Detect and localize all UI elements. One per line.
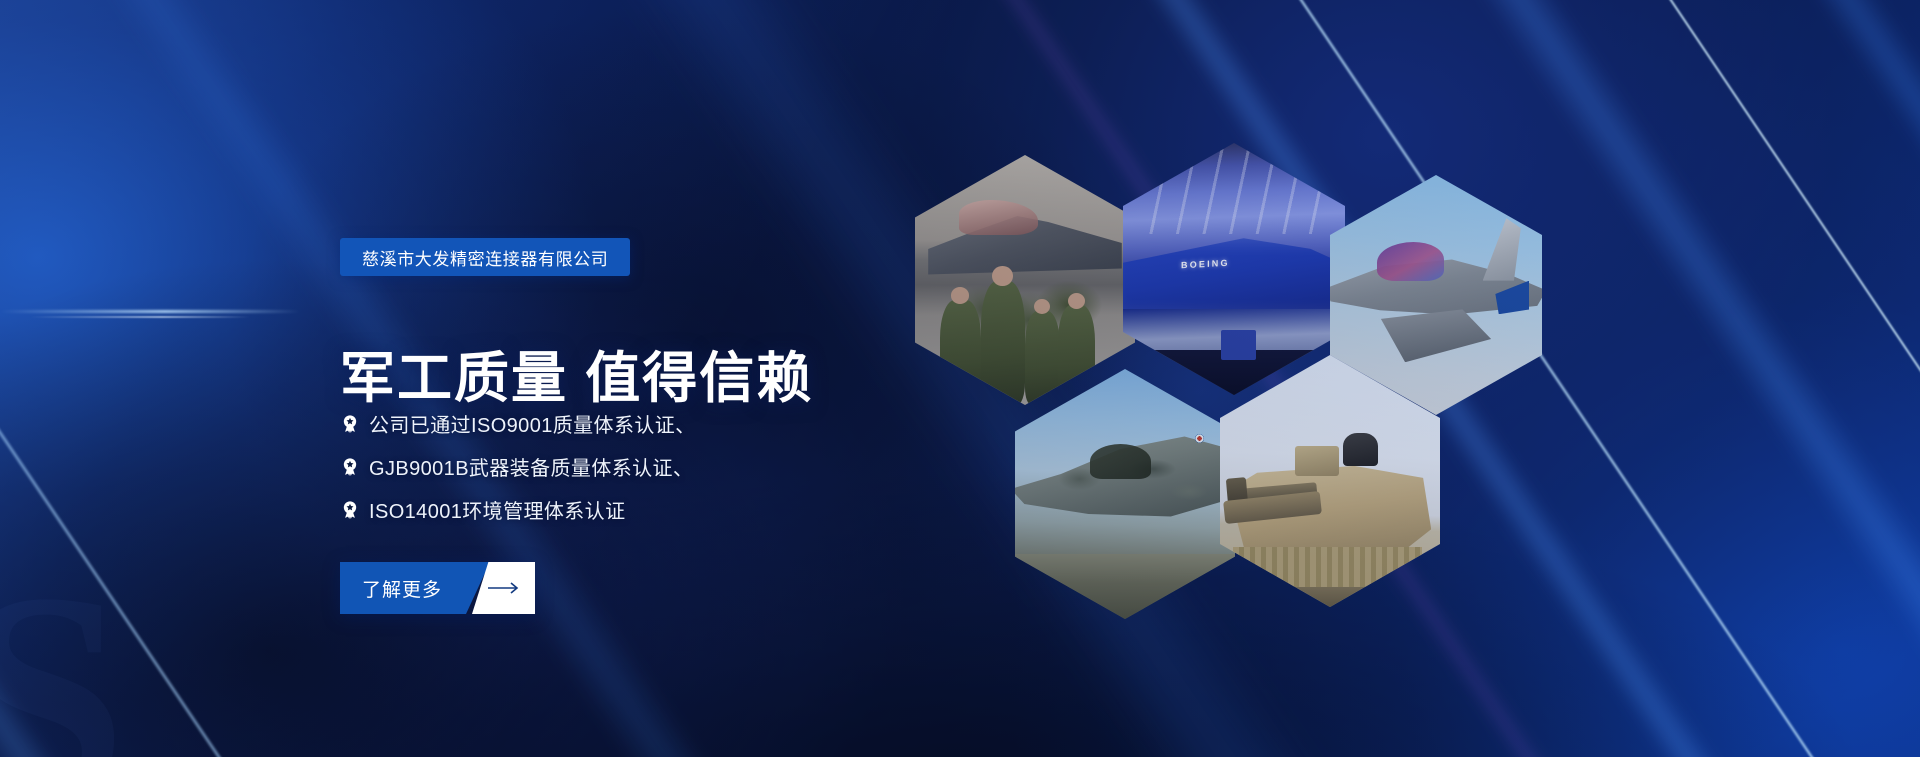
company-name-text: 慈溪市大发精密连接器有限公司 <box>362 245 608 270</box>
hex-mirage <box>1015 369 1235 619</box>
award-medal-icon <box>340 414 360 434</box>
certification-text: ISO14001环境管理体系认证 <box>369 495 625 524</box>
horizontal-light-streak <box>0 310 300 313</box>
mirage-photo <box>1015 369 1235 619</box>
hex-boeing: BOEING <box>1123 143 1345 395</box>
learn-more-button[interactable]: 了解更多 <box>340 562 535 614</box>
certification-text: 公司已通过ISO9001质量体系认证、 <box>369 409 696 438</box>
hex-image-cluster: BOEING <box>915 155 1475 615</box>
horizontal-light-streak-thin <box>30 316 250 318</box>
hero-banner: S 慈溪市大发精密连接器有限公司 军工质量 值得信赖 公司已通过ISO9001质… <box>0 0 1920 757</box>
learn-more-label: 了解更多 <box>340 562 490 614</box>
pilot-figures <box>933 270 1118 405</box>
certification-list: 公司已通过ISO9001质量体系认证、 GJB9001B武器装备质量体系认证、 <box>340 402 696 531</box>
list-item: GJB9001B武器装备质量体系认证、 <box>340 445 696 488</box>
award-medal-icon <box>340 457 360 477</box>
boeing-logo-text: BOEING <box>1181 258 1230 271</box>
list-item: ISO14001环境管理体系认证 <box>340 488 696 531</box>
pilots-photo <box>915 155 1135 405</box>
list-item: 公司已通过ISO9001质量体系认证、 <box>340 402 696 445</box>
certification-text: GJB9001B武器装备质量体系认证、 <box>369 452 693 481</box>
banner-headline: 军工质量 值得信赖 <box>340 333 813 413</box>
ghost-watermark-glyph: S <box>0 547 117 757</box>
company-name-tag: 慈溪市大发精密连接器有限公司 <box>340 238 630 276</box>
boeing-photo: BOEING <box>1123 143 1345 395</box>
award-medal-icon <box>340 500 360 520</box>
hex-pilots <box>915 155 1135 405</box>
